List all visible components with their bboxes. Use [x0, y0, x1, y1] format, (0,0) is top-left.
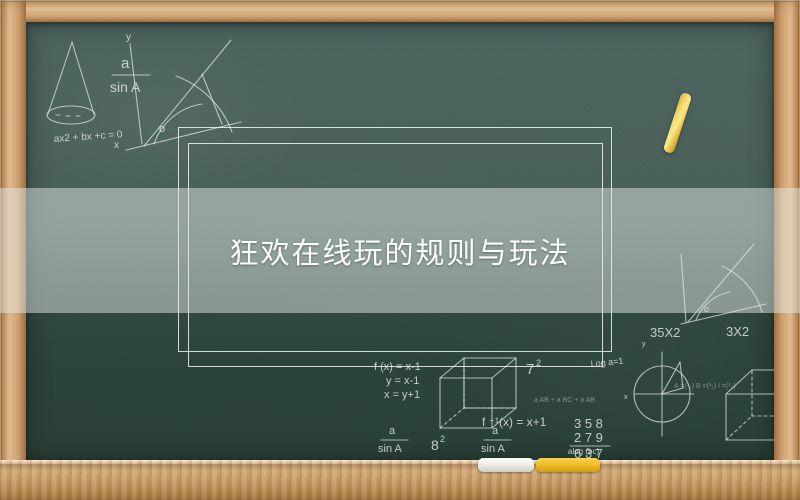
chalk-tray: [0, 460, 800, 500]
page-title-text: 狂欢在线玩的规则与玩法: [229, 230, 570, 272]
page-title: 狂欢在线玩的规则与玩法: [0, 188, 800, 313]
tray-inner-shadow: [0, 464, 800, 471]
chalk-stick-white-tray: [478, 458, 534, 472]
chalk-stick-yellow-tray: [536, 458, 600, 472]
chalkboard-banner: a sin A ax2 + bx +c = 0 y x o f (: [0, 0, 800, 500]
